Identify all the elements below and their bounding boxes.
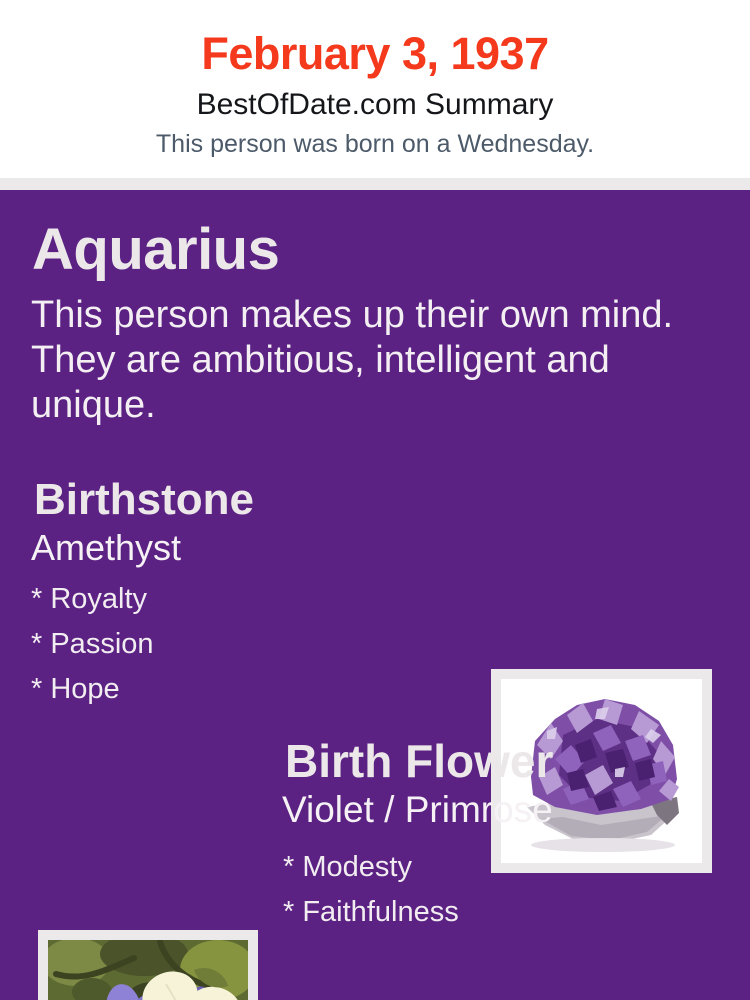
list-item: * Modesty [283, 845, 459, 890]
birth-flower-trait-list: * Modesty * Faithfulness [283, 845, 459, 935]
birth-day-note: This person was born on a Wednesday. [0, 128, 750, 160]
list-item: * Royalty [31, 577, 154, 622]
site-subtitle: BestOfDate.com Summary [0, 86, 750, 124]
birthstone-name: Amethyst [31, 527, 181, 569]
list-item: * Hope [31, 667, 154, 712]
page-title-date: February 3, 1937 [0, 26, 750, 82]
date-summary-card: February 3, 1937 BestOfDate.com Summary … [0, 0, 750, 1000]
birth-flower-heading: Birth Flower [285, 735, 553, 787]
zodiac-description: This person makes up their own mind. The… [31, 293, 691, 428]
birthstone-heading: Birthstone [34, 475, 254, 525]
header-divider [0, 178, 750, 190]
birth-flower-name: Violet / Primrose [282, 788, 553, 832]
birth-flower-image-frame [38, 930, 258, 1000]
birthstone-trait-list: * Royalty * Passion * Hope [31, 577, 154, 712]
details-panel: Aquarius This person makes up their own … [0, 190, 750, 1000]
card-header: February 3, 1937 BestOfDate.com Summary … [0, 0, 750, 178]
list-item: * Passion [31, 622, 154, 667]
zodiac-sign-title: Aquarius [32, 218, 279, 282]
list-item: * Faithfulness [283, 890, 459, 935]
violet-primrose-flower-icon [48, 940, 248, 1000]
